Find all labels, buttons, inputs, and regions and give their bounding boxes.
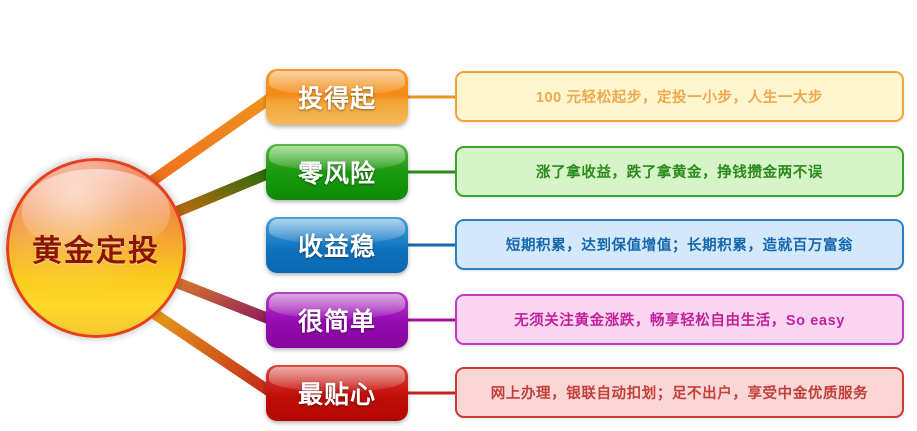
branch-label-affordable[interactable]: 投得起 [266, 69, 408, 125]
branch-row-affordable: 投得起 100 元轻松起步，定投一小步，人生一大步 [0, 69, 917, 125]
branch-description-most-caring[interactable]: 网上办理，银联自动扣划；足不出户，享受中金优质服务 [455, 367, 904, 418]
branch-description-text: 涨了拿收益，跌了拿黄金，挣钱攒金两不误 [536, 161, 823, 182]
branch-label-text: 收益稳 [298, 227, 376, 263]
branch-description-very-simple[interactable]: 无须关注黄金涨跌，畅享轻松自由生活，So easy [455, 294, 904, 345]
branch-label-zero-risk[interactable]: 零风险 [266, 144, 408, 200]
branch-description-zero-risk[interactable]: 涨了拿收益，跌了拿黄金，挣钱攒金两不误 [455, 146, 904, 197]
branch-label-stable-return[interactable]: 收益稳 [266, 217, 408, 273]
branch-description-text: 短期积累，达到保值增值；长期积累，造就百万富翁 [506, 234, 853, 255]
branch-label-text: 很简单 [298, 302, 376, 338]
branch-label-text: 最贴心 [298, 375, 376, 411]
branch-row-most-caring: 最贴心 网上办理，银联自动扣划；足不出户，享受中金优质服务 [0, 365, 917, 421]
branch-description-affordable[interactable]: 100 元轻松起步，定投一小步，人生一大步 [455, 71, 904, 122]
branch-label-text: 投得起 [298, 79, 376, 115]
branch-description-text: 无须关注黄金涨跌，畅享轻松自由生活，So easy [514, 309, 845, 330]
infographic-canvas: 黄金定投 投得起 100 元轻松起步，定投一小步，人生一大步 零风险 涨了拿收益… [0, 0, 917, 431]
branch-label-text: 零风险 [298, 154, 376, 190]
branch-label-most-caring[interactable]: 最贴心 [266, 365, 408, 421]
center-node-gold-investment[interactable]: 黄金定投 [6, 158, 186, 338]
branch-label-very-simple[interactable]: 很简单 [266, 292, 408, 348]
branch-description-text: 网上办理，银联自动扣划；足不出户，享受中金优质服务 [491, 382, 869, 403]
center-node-label: 黄金定投 [32, 226, 160, 270]
branch-description-stable-return[interactable]: 短期积累，达到保值增值；长期积累，造就百万富翁 [455, 219, 904, 270]
branch-description-text: 100 元轻松起步，定投一小步，人生一大步 [536, 86, 823, 107]
